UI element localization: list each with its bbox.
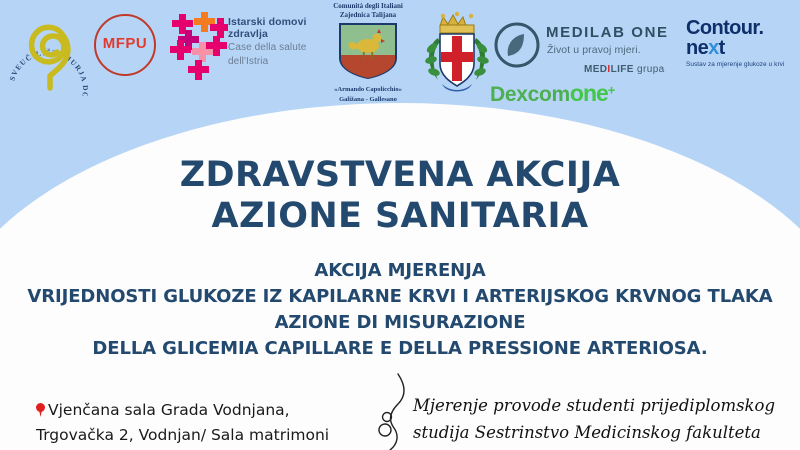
logo-comunita-degli-italiani: Comunità degli Italiani Zajednica Talija… [316, 2, 420, 102]
dexcom-wordmark: Dexcom [490, 83, 570, 106]
crosses-icon [166, 12, 228, 86]
dexcom-one-wordmark: one [570, 80, 608, 106]
next-t: t [719, 37, 725, 59]
logo-grad-vodnjan-coat-of-arms [418, 4, 496, 100]
medilab-mark-icon [494, 22, 540, 68]
logo-medilab-one: MEDILAB ONE Život u pravoj mjeri. MEDILI… [494, 16, 684, 88]
performers-line-2: studija Sestrinstvo Medicinskog fakultet… [413, 419, 793, 446]
squiggle-divider-icon [372, 372, 416, 450]
medilab-tagline: Život u pravoj mjeri. [547, 44, 641, 56]
next-x: x [708, 37, 719, 59]
poster-title: ZDRAVSTVENA AKCIJA AZIONE SANITARIA [0, 155, 800, 237]
idz-line3: Case della salute [228, 42, 320, 54]
logo-istarski-domovi-zdravlja: Istarski domovi zdravlja Case della salu… [166, 8, 316, 90]
contour-tagline: Sustav za mjerenje glukoze u krvi [686, 61, 798, 68]
dexcom-plus-glyph: + [608, 83, 616, 98]
poster-subtitle: AKCIJA MJERENJA VRIJEDNOSTI GLUKOZE IZ K… [0, 258, 800, 362]
subtitle-line-4: DELLA GLICEMIA CAPILLARE E DELLA PRESSIO… [0, 336, 800, 362]
logo-dexcom-one-plus: Dexcomone+ [490, 80, 650, 108]
medilife-medi: MED [584, 64, 607, 75]
title-line-hr: ZDRAVSTVENA AKCIJA [0, 155, 800, 196]
medilab-title: MEDILAB ONE [546, 24, 669, 41]
location-line-1: Vjenčana sala Grada Vodnjana, [36, 398, 376, 423]
performers-line-3: u Puli pod mentorstvom [413, 446, 793, 450]
cdi-bottom2: Galižana - Gallesano [316, 96, 420, 104]
location-text-1: Vjenčana sala Grada Vodnjana, [48, 401, 290, 419]
contour-wordmark: Contour. [686, 18, 798, 38]
location-block: Vjenčana sala Grada Vodnjana, Trgovačka … [36, 398, 376, 448]
logo-contour-next: Contour. next Sustav za mjerenje glukoze… [686, 18, 798, 88]
poster-canvas: SVEUČILIŠTE JURJA DOBRILE U PULI MFPU [0, 0, 800, 450]
idz-line4: dell'Istria [228, 56, 320, 68]
performers-line-1: Mjerenje provode studenti prijediplomsko… [413, 392, 793, 419]
logo-mfpu: MFPU [90, 10, 164, 84]
performers-block: Mjerenje provode studenti prijediplomsko… [413, 392, 793, 450]
subtitle-line-2: VRIJEDNOSTI GLUKOZE IZ KAPILARNE KRVI I … [0, 284, 800, 310]
location-pin-icon [36, 403, 45, 417]
subtitle-line-1: AKCIJA MJERENJA [0, 258, 800, 284]
subtitle-line-3: AZIONE DI MISURAZIONE [0, 310, 800, 336]
spiral-icon: SVEUČILIŠTE JURJA DOBRILE U PULI [6, 4, 90, 96]
logo-sveuciliste-jurja-dobrile-u-puli: SVEUČILIŠTE JURJA DOBRILE U PULI [6, 4, 90, 96]
idz-line1: Istarski domovi [228, 16, 320, 28]
cdi-top1: Comunità degli Italiani [316, 2, 420, 11]
rooster-crest-icon [337, 21, 399, 79]
next-wordmark: next [686, 38, 798, 59]
idz-text-block: Istarski domovi zdravlja Case della salu… [228, 16, 320, 68]
mfpu-label: MFPU [90, 35, 160, 52]
next-ne: ne [686, 37, 708, 59]
idz-line2: zdravlja [228, 28, 320, 40]
medilife-life: LIFE [611, 64, 634, 75]
location-line-2: Trgovačka 2, Vodnjan/ Sala matrimoni [36, 423, 376, 448]
medilife-group-label: MEDILIFE grupa [584, 64, 665, 75]
cdi-top2: Zajednica Talijana [316, 11, 420, 20]
coat-of-arms-icon [418, 4, 496, 100]
cdi-bottom1: «Armando Capolicchio» [316, 86, 420, 94]
title-line-it: AZIONE SANITARIA [0, 196, 800, 237]
medilife-suffix: grupa [634, 64, 665, 75]
sponsor-logo-strip: SVEUČILIŠTE JURJA DOBRILE U PULI MFPU [0, 0, 800, 110]
